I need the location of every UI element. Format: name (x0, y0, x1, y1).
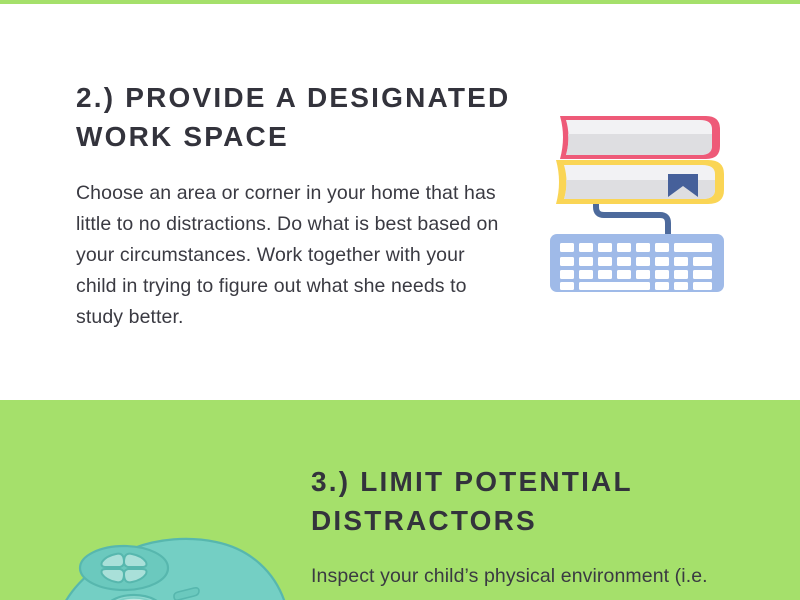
section-limit-potential-distractors: 3.) LIMIT POTENTIAL DISTRACTORS Inspect … (0, 400, 800, 600)
top-book-icon (560, 116, 720, 159)
section-2-body-text: Choose an area or corner in your home th… (76, 178, 508, 333)
section-provide-designated-work-space: 2.) PROVIDE A DESIGNATED WORK SPACE Choo… (0, 4, 800, 400)
section-2-text-block: 2.) PROVIDE A DESIGNATED WORK SPACE Choo… (76, 78, 526, 333)
section-3-body-text: Inspect your child’s physical environmen… (311, 561, 747, 592)
infographic-page: 2.) PROVIDE A DESIGNATED WORK SPACE Choo… (0, 0, 800, 600)
section-3-heading: 3.) LIMIT POTENTIAL DISTRACTORS (311, 462, 741, 540)
bottom-book-icon (556, 160, 724, 204)
game-controller-illustration (38, 520, 298, 600)
books-keyboard-illustration (548, 112, 726, 292)
section-3-text-block: 3.) LIMIT POTENTIAL DISTRACTORS Inspect … (311, 462, 741, 592)
keyboard-icon (550, 234, 724, 292)
section-2-heading: 2.) PROVIDE A DESIGNATED WORK SPACE (76, 78, 526, 156)
